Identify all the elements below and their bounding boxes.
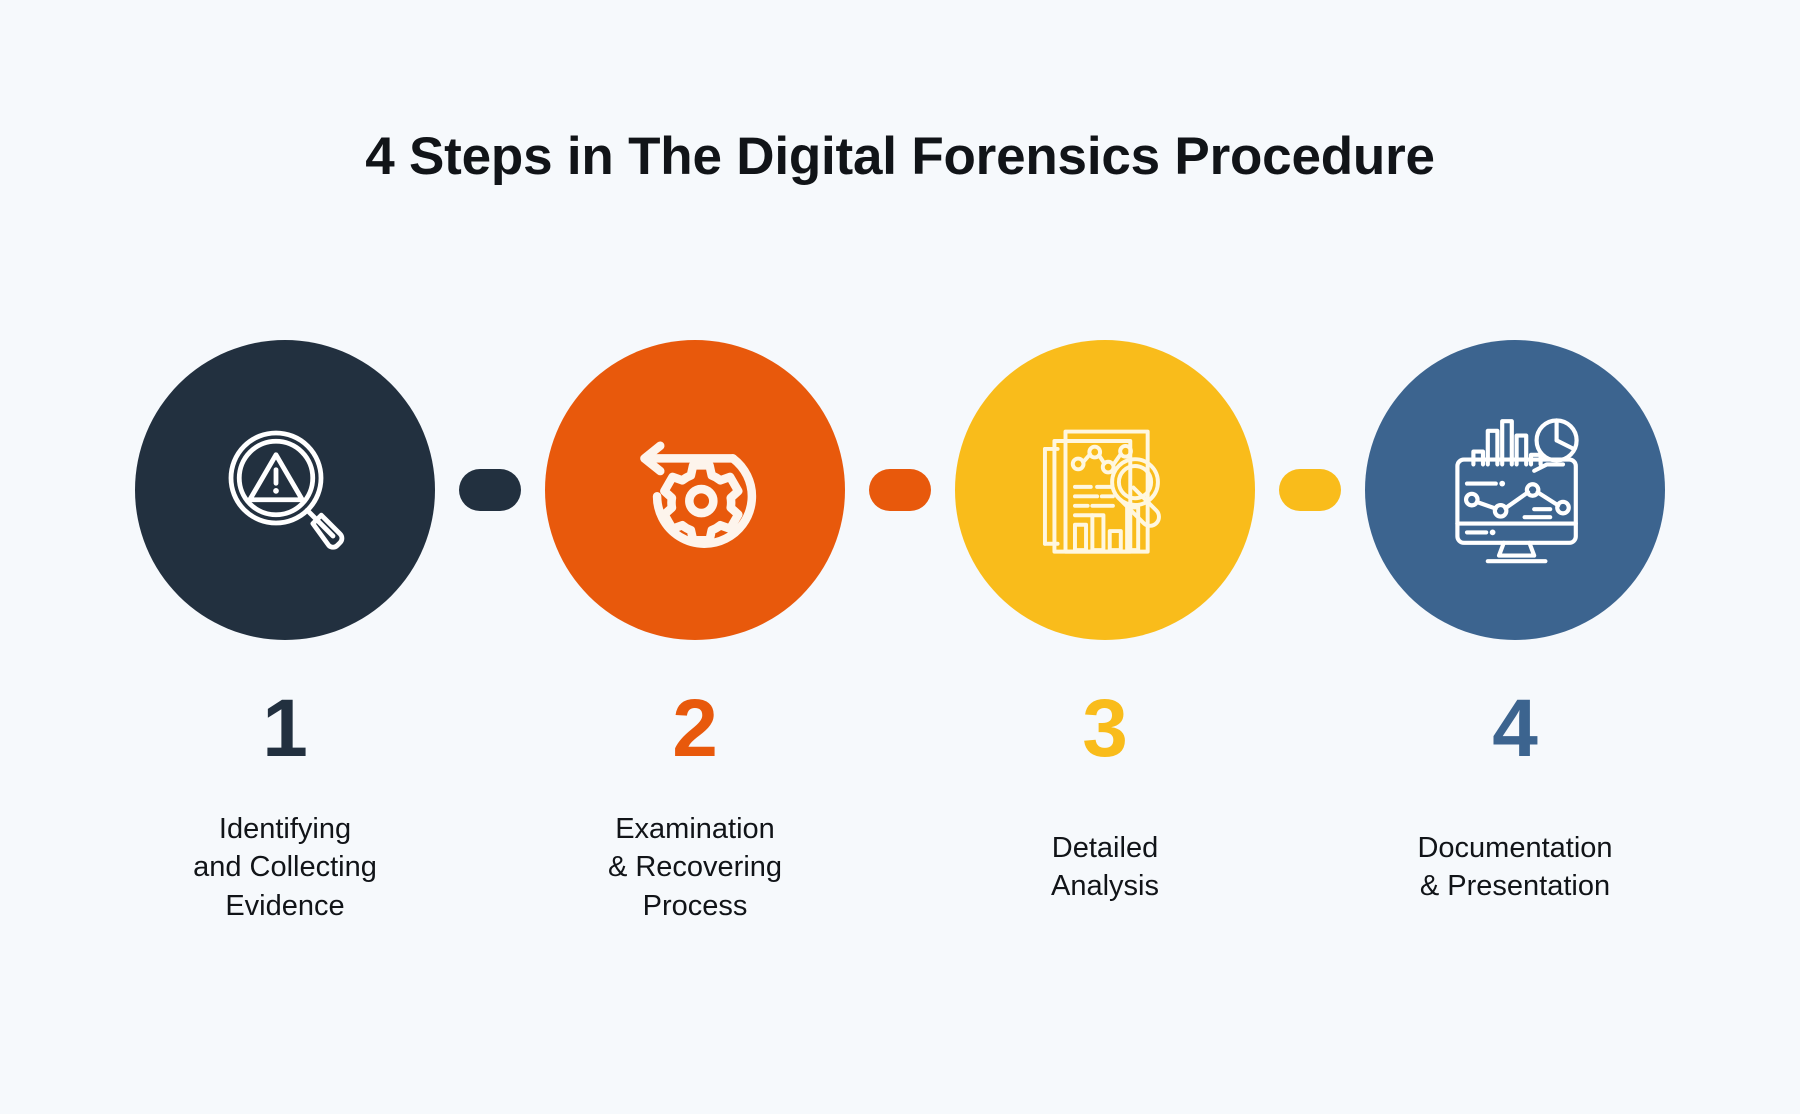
- connector-3-4: [1255, 340, 1365, 640]
- page-title: 4 Steps in The Digital Forensics Procedu…: [0, 128, 1800, 186]
- connector-1-2-pill: [459, 469, 521, 511]
- gear-refresh-icon: [616, 411, 774, 569]
- step-3-circle[interactable]: [955, 340, 1255, 640]
- step-4[interactable]: 4 Documentation & Presentation: [1365, 340, 1665, 906]
- step-3-caption: Detailed Analysis: [1051, 829, 1159, 906]
- step-3-number: 3: [1082, 688, 1128, 770]
- step-3[interactable]: 3 Detailed Analysis: [955, 340, 1255, 906]
- infographic-canvas: 4 Steps in The Digital Forensics Procedu…: [0, 0, 1800, 1114]
- step-2-circle[interactable]: [545, 340, 845, 640]
- monitor-charts-icon: [1435, 410, 1595, 570]
- magnifier-warning-icon: [210, 415, 360, 565]
- step-1-circle[interactable]: [135, 340, 435, 640]
- step-2-number: 2: [672, 688, 718, 770]
- step-1-number: 1: [262, 688, 308, 770]
- step-1-caption: Identifying and Collecting Evidence: [193, 810, 377, 925]
- report-magnifier-icon: [1026, 411, 1184, 569]
- step-2[interactable]: 2 Examination & Recovering Process: [545, 340, 845, 925]
- steps-row: 1 Identifying and Collecting Evidence: [0, 340, 1800, 925]
- step-4-circle[interactable]: [1365, 340, 1665, 640]
- step-1[interactable]: 1 Identifying and Collecting Evidence: [135, 340, 435, 925]
- connector-3-4-pill: [1279, 469, 1341, 511]
- connector-2-3-pill: [869, 469, 931, 511]
- connector-1-2: [435, 340, 545, 640]
- connector-2-3: [845, 340, 955, 640]
- step-4-caption: Documentation & Presentation: [1417, 829, 1612, 906]
- step-2-caption: Examination & Recovering Process: [608, 810, 782, 925]
- step-4-number: 4: [1492, 688, 1538, 770]
